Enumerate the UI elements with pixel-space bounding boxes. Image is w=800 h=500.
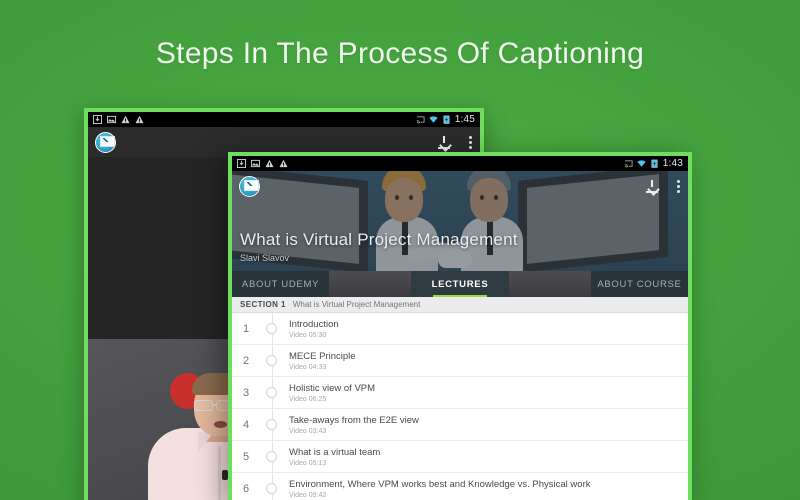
lecture-title: MECE Principle — [289, 351, 356, 362]
back-status-time: 1:45 — [455, 114, 475, 125]
lecture-status-circle-icon[interactable] — [266, 483, 277, 494]
battery-icon — [442, 115, 451, 124]
presenter-placket — [218, 446, 221, 500]
section-number: SECTION 1 — [240, 300, 286, 309]
kebab-menu-icon[interactable] — [469, 136, 472, 149]
lecture-meta: Video 04:33 — [289, 364, 356, 371]
lecture-number: 2 — [232, 355, 260, 367]
cast-icon — [416, 115, 425, 124]
lecture-status-circle-icon[interactable] — [266, 419, 277, 430]
lecture-number: 3 — [232, 387, 260, 399]
course-heading-block: What is Virtual Project Management Slavi… — [240, 230, 518, 263]
lecture-meta: Video 05:30 — [289, 332, 339, 339]
page-title: Steps In The Process Of Captioning — [0, 0, 800, 108]
front-tablet-screen: 1:43 — [232, 156, 688, 500]
back-status-left-icons — [93, 115, 144, 124]
image-icon — [251, 159, 260, 168]
back-status-bar: 1:45 — [88, 112, 480, 127]
lecture-meta: Video 03:43 — [289, 428, 419, 435]
lecture-list[interactable]: 1 Introduction Video 05:30 2 MECE Princi… — [232, 313, 688, 500]
lecture-status-circle-icon[interactable] — [266, 355, 277, 366]
download-icon — [93, 115, 102, 124]
section-header: SECTION 1 What is Virtual Project Manage… — [232, 297, 688, 313]
warning-icon — [121, 115, 130, 124]
lecture-title: What is a virtual team — [289, 447, 380, 458]
lecture-text: Holistic view of VPM Video 06:25 — [289, 383, 375, 403]
front-app-bar — [232, 171, 688, 201]
lecture-status-circle-icon[interactable] — [266, 323, 277, 334]
front-status-right-icons: 1:43 — [624, 158, 683, 169]
lecture-text: Environment, Where VPM works best and Kn… — [289, 479, 591, 499]
download-icon[interactable] — [646, 180, 658, 193]
front-status-time: 1:43 — [663, 158, 683, 169]
lecture-title: Take-aways from the E2E view — [289, 415, 419, 426]
presenter-glasses-bridge — [213, 404, 217, 406]
tab-thumbnail-left — [329, 271, 411, 297]
presenter-mouth — [214, 421, 227, 428]
tab-about-udemy[interactable]: ABOUT UDEMY — [232, 271, 329, 297]
tab-about-course[interactable]: ABOUT COURSE — [591, 271, 688, 297]
wifi-icon — [429, 115, 438, 124]
list-item[interactable]: 4 Take-aways from the E2E view Video 03:… — [232, 409, 688, 441]
warning-icon — [265, 159, 274, 168]
course-hero-banner: What is Virtual Project Management Slavi… — [232, 171, 688, 271]
app-logo-icon[interactable] — [239, 176, 260, 197]
front-tablet-frame: 1:43 — [228, 152, 692, 500]
section-name: What is Virtual Project Management — [293, 300, 420, 309]
tab-lectures[interactable]: LECTURES — [411, 271, 508, 297]
kebab-menu-icon[interactable] — [677, 180, 680, 193]
battery-icon — [650, 159, 659, 168]
front-status-left-icons — [237, 159, 288, 168]
lecture-title: Holistic view of VPM — [289, 383, 375, 394]
warning-icon — [279, 159, 288, 168]
lecture-text: Take-aways from the E2E view Video 03:43 — [289, 415, 419, 435]
wifi-icon — [637, 159, 646, 168]
lecture-status-circle-icon[interactable] — [266, 451, 277, 462]
app-logo-icon[interactable] — [95, 132, 116, 153]
warning-icon — [135, 115, 144, 124]
list-item[interactable]: 1 Introduction Video 05:30 — [232, 313, 688, 345]
list-item[interactable]: 2 MECE Principle Video 04:33 — [232, 345, 688, 377]
lecture-status-circle-icon[interactable] — [266, 387, 277, 398]
lecture-number: 4 — [232, 419, 260, 431]
lecture-meta: Video 06:25 — [289, 396, 375, 403]
cast-icon — [624, 159, 633, 168]
front-status-bar: 1:43 — [232, 156, 688, 171]
list-item[interactable]: 5 What is a virtual team Video 05:13 — [232, 441, 688, 473]
lecture-text: MECE Principle Video 04:33 — [289, 351, 356, 371]
tab-thumbnail-right — [509, 271, 591, 297]
course-author: Slavi Slavov — [240, 253, 518, 263]
lecture-meta: Video 05:13 — [289, 460, 380, 467]
back-status-right-icons: 1:45 — [416, 114, 475, 125]
back-app-bar-actions — [438, 136, 472, 149]
lecture-number: 6 — [232, 483, 260, 495]
lecture-text: Introduction Video 05:30 — [289, 319, 339, 339]
list-item[interactable]: 3 Holistic view of VPM Video 06:25 — [232, 377, 688, 409]
image-icon — [107, 115, 116, 124]
download-icon — [237, 159, 246, 168]
lecture-number: 5 — [232, 451, 260, 463]
course-title: What is Virtual Project Management — [240, 230, 518, 250]
lecture-title: Introduction — [289, 319, 339, 330]
lecture-number: 1 — [232, 323, 260, 335]
lecture-title: Environment, Where VPM works best and Kn… — [289, 479, 591, 490]
front-app-bar-actions — [646, 180, 680, 193]
download-icon[interactable] — [438, 136, 450, 149]
presenter-glasses-left — [194, 400, 213, 411]
lecture-meta: Video 09:42 — [289, 492, 591, 499]
list-item[interactable]: 6 Environment, Where VPM works best and … — [232, 473, 688, 500]
course-tab-bar: ABOUT UDEMY LECTURES ABOUT COURSE — [232, 271, 688, 297]
lecture-text: What is a virtual team Video 05:13 — [289, 447, 380, 467]
